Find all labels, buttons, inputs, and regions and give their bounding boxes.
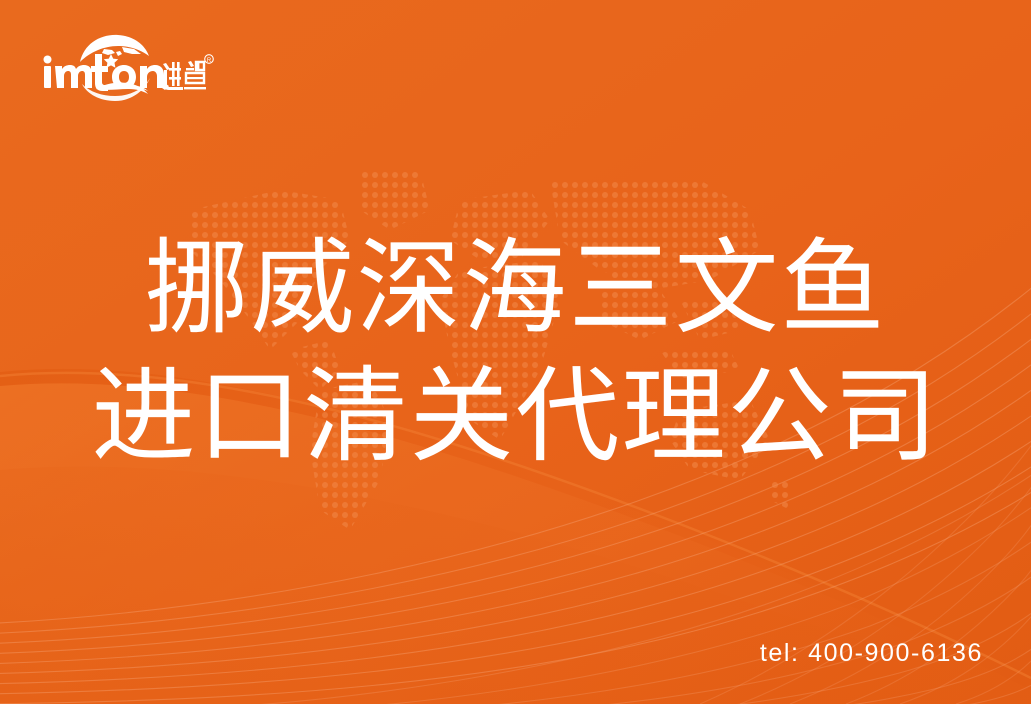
- contact-phone[interactable]: tel: 400-900-6136: [760, 639, 983, 668]
- headline-line-1: 挪威深海三文鱼: [0, 224, 1031, 352]
- registered-trademark-icon: R: [205, 55, 214, 64]
- poster-canvas: R imton 进贸通 进贸通 挪威深海三文鱼 进口清关代理公司 tel: 40…: [0, 0, 1031, 704]
- page-title: 挪威深海三文鱼 进口清关代理公司: [0, 224, 1031, 480]
- imton-logo[interactable]: R imton 进贸通: [38, 26, 214, 104]
- svg-text:R: R: [207, 58, 212, 64]
- globe-swoosh-icon: [80, 35, 150, 101]
- headline-line-2: 进口清关代理公司: [0, 352, 1031, 480]
